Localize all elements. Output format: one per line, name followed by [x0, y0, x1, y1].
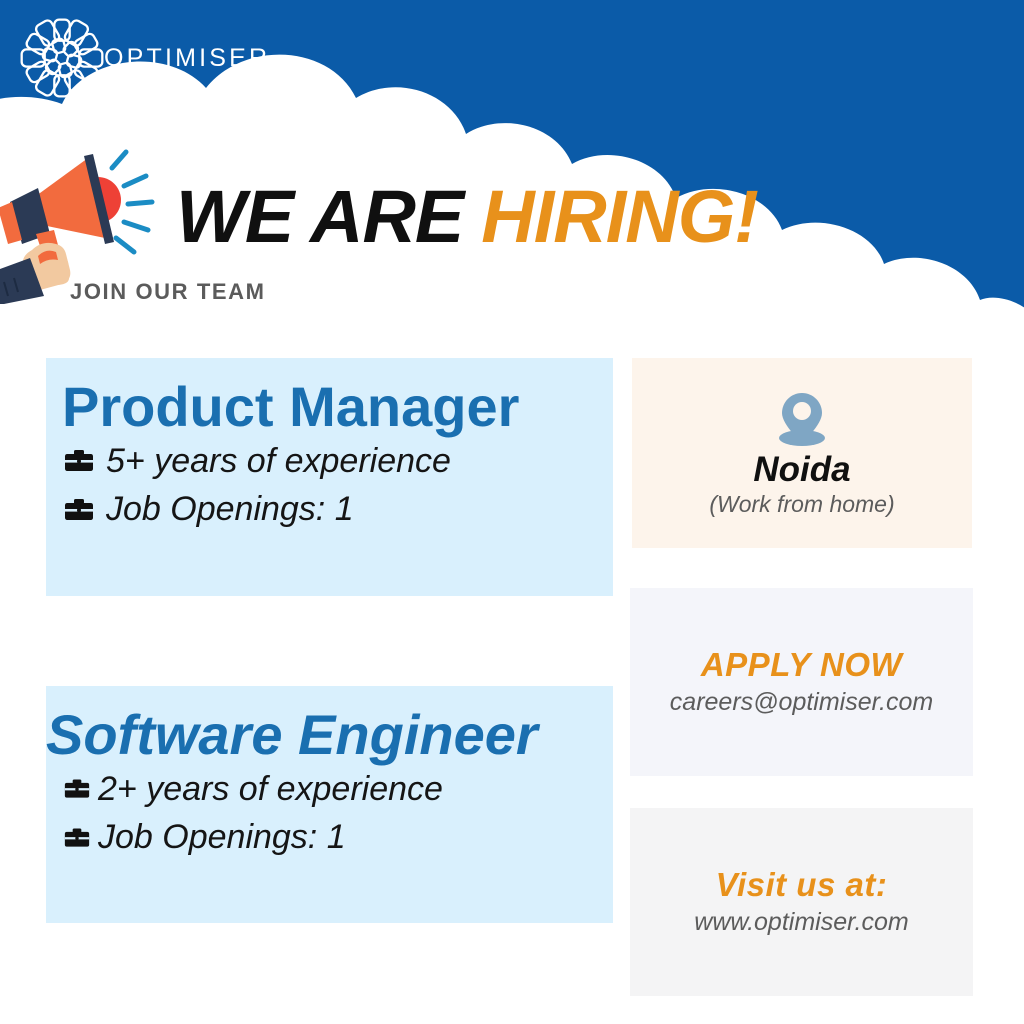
list-item: Job Openings: 1: [46, 813, 613, 861]
job-card-software-engineer[interactable]: Software Engineer 2+ years of experience: [46, 686, 613, 923]
briefcase-icon: [64, 448, 94, 474]
list-item-text: 5+ years of experience: [106, 437, 451, 485]
list-item-text: 2+ years of experience: [98, 765, 443, 813]
page-title: WE AREHIRING!: [176, 180, 758, 254]
hiring-poster: OPTIMISER: [0, 0, 1024, 1024]
map-pin-icon: [771, 388, 833, 450]
visit-website-card[interactable]: Visit us at: www.optimiser.com: [630, 808, 973, 996]
list-item: Job Openings: 1: [46, 485, 613, 533]
list-item: 5+ years of experience: [46, 437, 613, 485]
apply-now-card[interactable]: APPLY NOW careers@optimiser.com: [630, 588, 973, 776]
briefcase-icon: [64, 825, 90, 851]
visit-heading: Visit us at:: [716, 867, 888, 903]
list-item: 2+ years of experience: [46, 765, 613, 813]
briefcase-icon: [64, 497, 94, 523]
location-card: Noida (Work from home): [632, 358, 972, 548]
location-city: Noida: [753, 452, 850, 489]
location-note: (Work from home): [709, 491, 894, 518]
burst-paperclip-logo-icon: [14, 10, 110, 106]
list-item-text: Job Openings: 1: [106, 485, 354, 533]
job-title: Software Engineer: [46, 706, 613, 763]
headline-we-are: WE ARE: [176, 175, 463, 258]
list-item-text: Job Openings: 1: [98, 813, 346, 861]
job-title: Product Manager: [46, 378, 613, 435]
job-detail-list: 5+ years of experience Job Openings: 1: [46, 437, 613, 534]
headline-hiring: HIRING!: [481, 175, 758, 258]
brand-wordmark: OPTIMISER: [104, 44, 270, 73]
apply-now-heading: APPLY NOW: [701, 647, 902, 683]
visit-website-url[interactable]: www.optimiser.com: [694, 908, 908, 937]
subheadline: JOIN OUR TEAM: [70, 279, 266, 305]
apply-email[interactable]: careers@optimiser.com: [670, 688, 933, 717]
briefcase-icon: [64, 776, 90, 802]
brand-logo[interactable]: OPTIMISER: [14, 8, 244, 108]
job-card-product-manager[interactable]: Product Manager 5+ years of experience: [46, 358, 613, 596]
job-detail-list: 2+ years of experience Job Openings: 1: [46, 765, 613, 862]
